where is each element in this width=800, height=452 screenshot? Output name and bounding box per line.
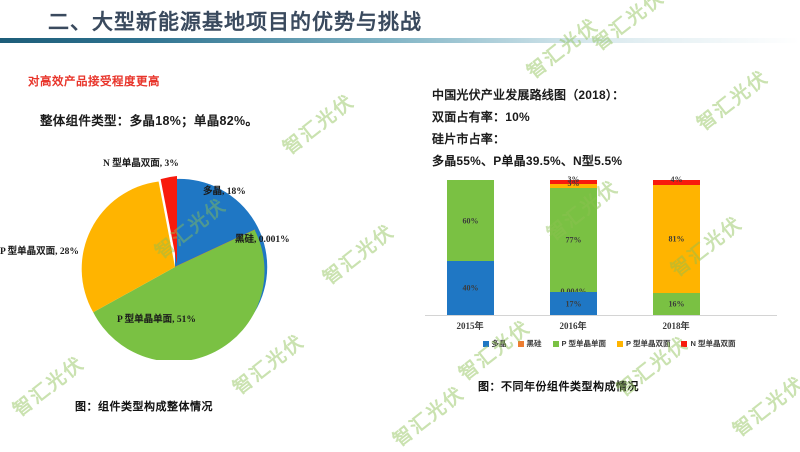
overall-module-type-text: 整体组件类型：多晶18%；单晶82%。: [40, 110, 258, 129]
legend-label-n-mono-bifacial: N 型单晶双面: [690, 338, 735, 349]
legend-label-p-mono-single: P 型单晶单面: [562, 338, 606, 349]
bar-2016-label-duojing: 17%: [550, 299, 597, 308]
pie-label-n-mono-bifacial: N 型单晶双面, 3%: [103, 159, 179, 171]
bar-2018-label-p-mono-bifacial: 81%: [653, 235, 700, 244]
bar-2018: 4% 81% 16%: [653, 180, 700, 315]
watermark: 智汇光伏: [587, 0, 670, 56]
watermark: 智汇光伏: [387, 379, 470, 452]
bar-xtick-2016: 2016年: [528, 319, 618, 332]
legend-label-duojing: 多晶: [492, 338, 507, 349]
section-red-heading: 对高效产品接受程度更高: [28, 73, 160, 89]
legend-swatch-p-mono-bifacial: [617, 341, 623, 347]
roadmap-line-1: 中国光伏产业发展路线图（2018）：: [432, 84, 777, 106]
watermark: 智汇光伏: [277, 87, 360, 160]
legend-item-p-mono-single: P 型单晶单面: [553, 338, 606, 349]
bar-plot-area: 60% 40% 3% 3% 77% 0.004% 17%: [425, 180, 785, 315]
pie-label-p-mono-bifacial: P 型单晶双面, 28%: [0, 247, 79, 259]
pie-label-heigui: 黑硅, 0.001%: [235, 235, 290, 247]
legend-swatch-duojing: [483, 341, 489, 347]
bar-2015-label-duojing: 40%: [447, 284, 494, 293]
bar-2016-label-p-mono-single: 77%: [550, 236, 597, 245]
bar-2015-label-p-mono-single: 60%: [447, 216, 494, 225]
left-chart-caption: 图：组件类型构成整体情况: [75, 398, 213, 414]
title-divider: [0, 38, 800, 43]
bar-2016-seg-duojing: 17%: [550, 292, 597, 315]
roadmap-line-4: 多晶55%、P单晶39.5%、N型5.5%: [432, 150, 777, 172]
bar-2018-seg-p-mono-single: 16%: [653, 293, 700, 315]
roadmap-line-2: 双面占有率：10%: [432, 106, 777, 128]
bar-2016-label-p-mono-bifacial: 3%: [550, 179, 597, 188]
pie-chart: N 型单晶双面, 3% 多晶, 18% 黑硅, 0.001% P 型单晶单面, …: [55, 175, 295, 360]
right-chart-caption: 图：不同年份组件类型构成情况: [478, 378, 639, 394]
pie-label-duojing: 多晶, 18%: [203, 187, 246, 199]
legend-item-duojing: 多晶: [483, 338, 507, 349]
legend-swatch-heigui: [518, 341, 524, 347]
legend-swatch-n-mono-bifacial: [681, 341, 687, 347]
legend-item-heigui: 黑硅: [518, 338, 542, 349]
watermark: 智汇光伏: [727, 369, 800, 442]
bar-2018-label-n-mono-bifacial: 4%: [653, 175, 700, 184]
bar-xtick-2015: 2015年: [425, 319, 515, 332]
legend-label-heigui: 黑硅: [527, 338, 542, 349]
bar-xtick-2018: 2018年: [631, 319, 721, 332]
legend-swatch-p-mono-single: [553, 341, 559, 347]
watermark: 智汇光伏: [521, 11, 604, 84]
legend-item-p-mono-bifacial: P 型单晶双面: [617, 338, 670, 349]
bar-2015: 60% 40%: [447, 180, 494, 315]
bar-2016: 3% 3% 77% 0.004% 17%: [550, 180, 597, 315]
bar-2018-label-p-mono-single: 16%: [653, 300, 700, 309]
legend-label-p-mono-bifacial: P 型单晶双面: [626, 338, 670, 349]
bar-2015-seg-duojing: 40%: [447, 261, 494, 315]
watermark: 智汇光伏: [317, 217, 400, 290]
pie-chart-svg: [55, 175, 295, 360]
legend-item-n-mono-bifacial: N 型单晶双面: [681, 338, 735, 349]
bar-2015-seg-p-mono-single: 60%: [447, 180, 494, 261]
bar-legend: 多晶 黑硅 P 型单晶单面 P 型单晶双面 N 型单晶双面: [433, 338, 785, 349]
bar-x-axis: [425, 315, 777, 316]
page-title: 二、大型新能源基地项目的优势与挑战: [48, 6, 422, 36]
roadmap-text-block: 中国光伏产业发展路线图（2018）： 双面占有率：10% 硅片市占率： 多晶55…: [432, 84, 777, 172]
bar-2018-seg-p-mono-bifacial: 81%: [653, 185, 700, 293]
roadmap-line-3: 硅片市占率：: [432, 128, 777, 150]
pie-label-p-mono-single: P 型单晶单面, 51%: [117, 315, 196, 327]
stacked-bar-chart: 60% 40% 3% 3% 77% 0.004% 17%: [425, 180, 785, 355]
bar-2016-seg-p-mono-single: 77% 0.004%: [550, 188, 597, 292]
slide-canvas: 二、大型新能源基地项目的优势与挑战 对高效产品接受程度更高 整体组件类型：多晶1…: [0, 0, 800, 450]
